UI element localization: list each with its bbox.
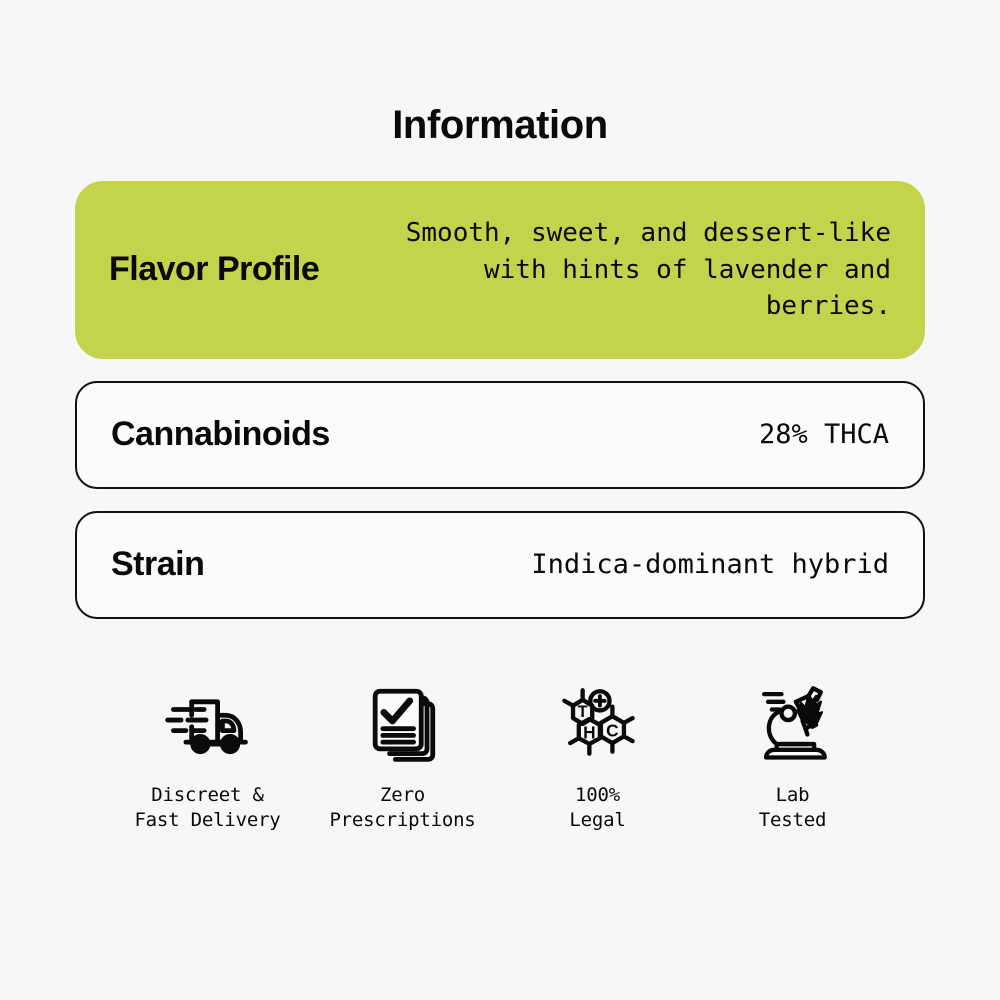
feature-badge-row: Discreet & Fast Delivery [75, 673, 925, 833]
info-card-label: Flavor Profile [109, 251, 319, 288]
info-card-value: Smooth, sweet, and dessert-like with hin… [343, 215, 891, 326]
feature-label: 100% Legal [569, 783, 625, 833]
feature-discreet-fast-delivery: Discreet & Fast Delivery [110, 673, 305, 833]
info-card-strain: Strain Indica-dominant hybrid [75, 511, 925, 619]
delivery-truck-icon [160, 673, 256, 769]
info-card-label: Cannabinoids [111, 416, 330, 453]
info-card-list: Flavor Profile Smooth, sweet, and desser… [75, 181, 925, 619]
svg-text:C: C [606, 720, 618, 740]
feature-label: Lab Tested [759, 783, 826, 833]
documents-check-icon [355, 673, 451, 769]
svg-text:H: H [583, 722, 595, 742]
thc-molecule-icon: T H C [550, 673, 646, 769]
microscope-leaf-icon [745, 673, 841, 769]
feature-zero-prescriptions: Zero Prescriptions [305, 673, 500, 833]
feature-lab-tested: Lab Tested [695, 673, 890, 833]
feature-100-percent-legal: T H C 100% Legal [500, 673, 695, 833]
info-card-cannabinoids: Cannabinoids 28% THCA [75, 381, 925, 489]
info-card-value: 28% THCA [354, 419, 889, 451]
svg-text:T: T [577, 703, 587, 721]
info-card-label: Strain [111, 546, 204, 583]
information-panel: Information Flavor Profile Smooth, sweet… [0, 0, 1000, 1000]
feature-label: Discreet & Fast Delivery [134, 783, 280, 833]
info-card-value: Indica-dominant hybrid [228, 549, 889, 581]
feature-label: Zero Prescriptions [329, 783, 475, 833]
info-card-flavor-profile: Flavor Profile Smooth, sweet, and desser… [75, 181, 925, 359]
page-title: Information [75, 0, 925, 145]
